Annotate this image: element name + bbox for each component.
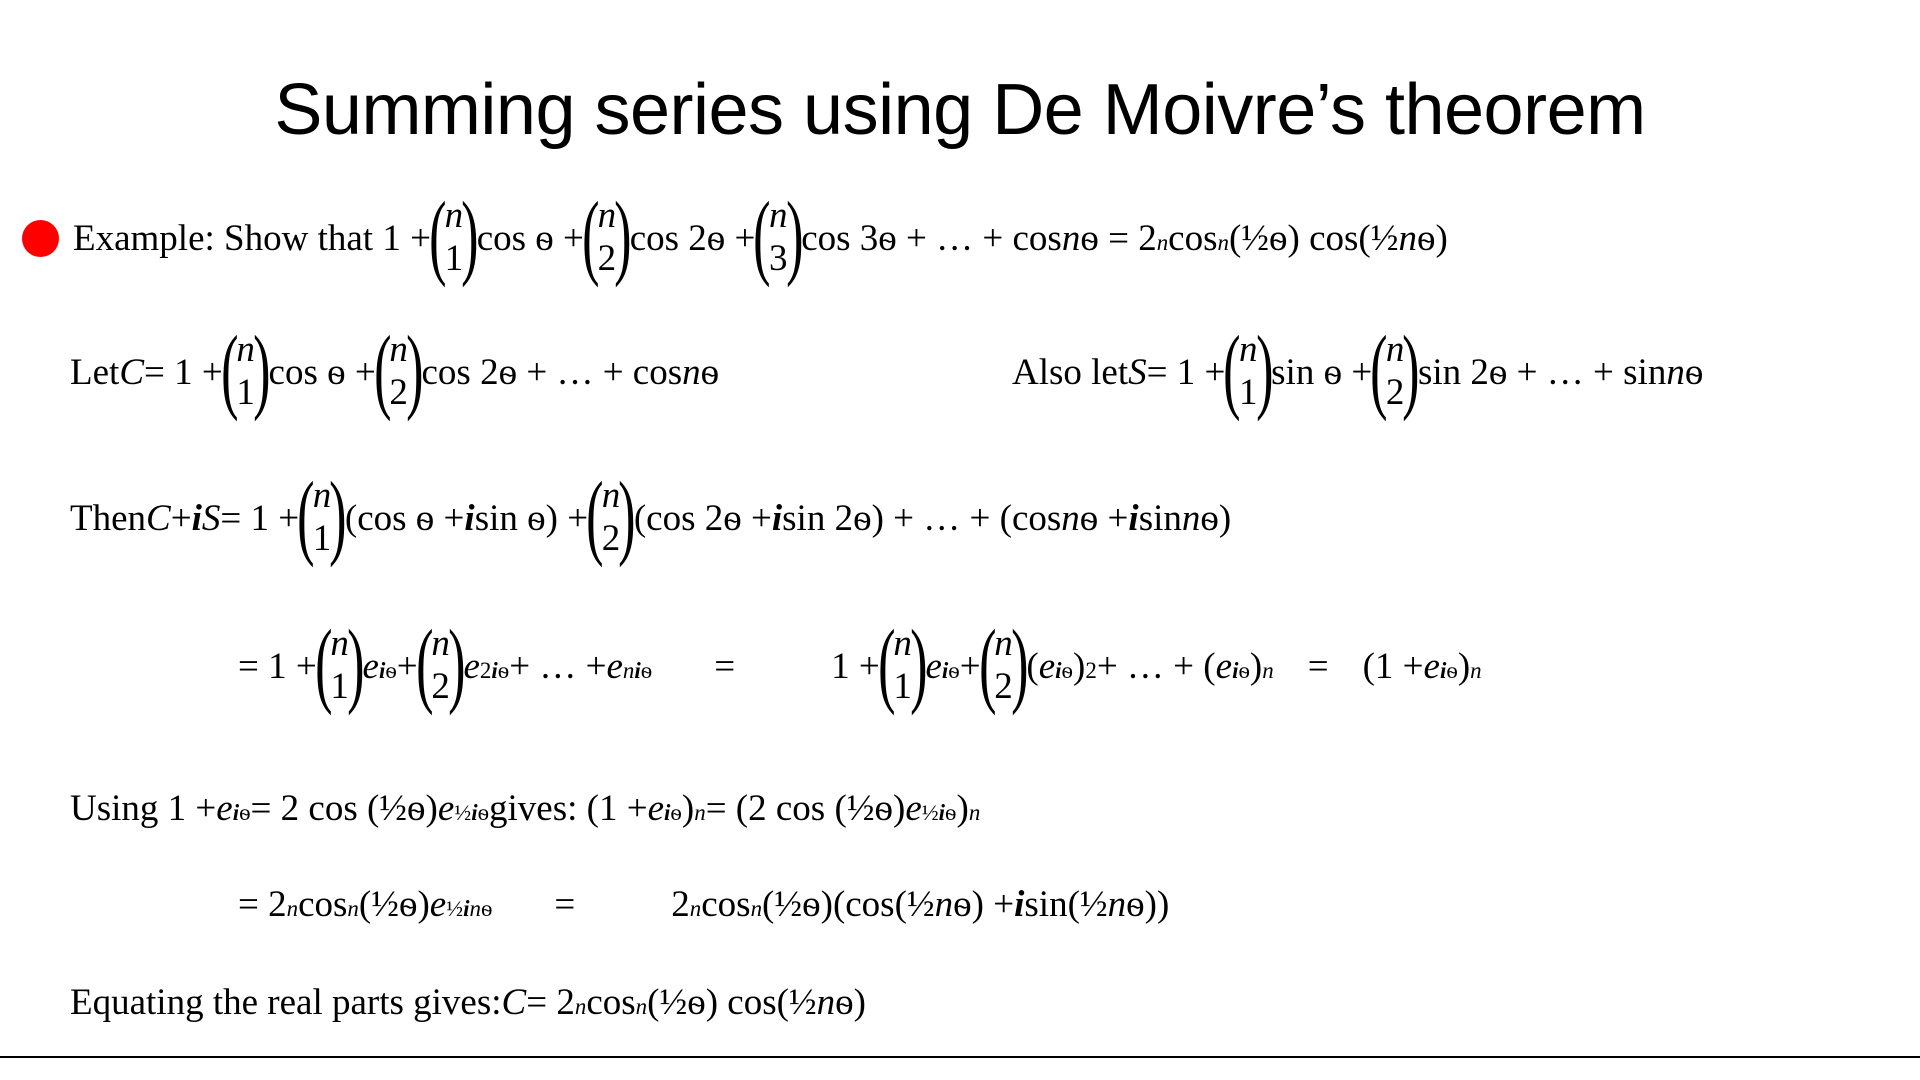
exp-e2-sup-theta: ѳ <box>498 658 509 683</box>
exp-e1-sup-theta: ѳ <box>385 658 396 683</box>
equating-n1: n <box>817 984 836 1021</box>
then-i1: i <box>464 500 474 537</box>
binomial-top: n <box>1239 331 1258 368</box>
result-eq: = 2 <box>238 886 287 923</box>
bullet-dot-icon <box>22 220 59 257</box>
then-seg2b: sin 2ѳ) + … + (cos <box>782 500 1061 537</box>
using-e4: e <box>905 790 921 827</box>
using-identity-row: Using 1 + eiѳ = 2 cos (½ѳ)e½iѳ gives: (1… <box>70 790 980 827</box>
result-e1-sup-half: ½ <box>446 896 463 921</box>
result-close: ѳ)) <box>1126 886 1169 923</box>
using-lead: Using 1 + <box>70 790 216 827</box>
then-lead: Then <box>70 500 146 537</box>
result-e1-sup-theta: ѳ <box>481 896 492 921</box>
exp-e3: e <box>606 648 622 685</box>
exp-plus2: + <box>960 648 981 685</box>
using-e4-sup-theta: ѳ <box>945 800 956 825</box>
using-e2: e <box>438 790 454 827</box>
bottom-divider <box>0 1056 1920 1058</box>
result-sin: sin(½ <box>1024 886 1107 923</box>
example-n-italic2: n <box>1399 220 1418 257</box>
result-n1: n <box>935 886 954 923</box>
let-s-lead: Also let <box>1012 354 1128 391</box>
result-cos: cos <box>298 886 347 923</box>
equating-eq: = 2 <box>526 984 575 1021</box>
then-S: S <box>202 500 221 537</box>
using-e4-sup-half: ½ <box>922 800 939 825</box>
exp-mid2: + … + ( <box>1097 648 1216 685</box>
exp-equals-end: = <box>1308 648 1329 685</box>
using-expression: Using 1 + eiѳ = 2 cos (½ѳ)e½iѳ gives: (1… <box>70 790 980 827</box>
exp-e5: e <box>1039 648 1055 685</box>
example-half-theta: (½ѳ) cos(½ <box>1229 220 1399 257</box>
let-s-n-italic: n <box>1666 354 1685 391</box>
result-cos2: cos <box>701 886 750 923</box>
using-close2: ) <box>956 790 968 827</box>
exp-e2: e <box>463 648 479 685</box>
exp-paren-close-2: ) <box>1073 648 1085 685</box>
exp-e6-sup-theta: ѳ <box>1238 658 1249 683</box>
also-let-s-row: Also let S = 1 + ( n 1 ) sin ѳ + ( n <box>1012 352 1703 391</box>
example-statement: Example: Show that 1 + ( n 1 ) cos ѳ + (… <box>73 218 1448 257</box>
exp-final-close: ) <box>1458 648 1470 685</box>
using-e1-sup-theta: ѳ <box>239 800 250 825</box>
example-bullet-row: Example: Show that 1 + ( n 1 ) cos ѳ + (… <box>22 218 1448 257</box>
example-close: ѳ) <box>1417 220 1448 257</box>
then-eq: = 1 + <box>220 500 299 537</box>
exp-e1: e <box>363 648 379 685</box>
using-e3: e <box>648 790 664 827</box>
let-c-expression: Let C = 1 + ( n 1 ) cos ѳ + ( n 2 <box>70 352 719 391</box>
let-s-symbol: S <box>1128 354 1147 391</box>
let-c-seg2: cos 2ѳ + … + cos <box>422 354 683 391</box>
exponential-expression: = 1 + ( n 1 ) eiѳ + ( n 2 <box>238 646 1482 685</box>
binomial-top: n <box>994 625 1013 662</box>
then-c-plus-is-row: Then C + iS = 1 + ( n 1 ) (cos ѳ + i sin… <box>70 498 1231 537</box>
equating-lead: Equating the real parts gives: <box>70 984 502 1021</box>
then-i: i <box>192 500 202 537</box>
example-cos: cos <box>1168 220 1217 257</box>
exponential-row: = 1 + ( n 1 ) eiѳ + ( n 2 <box>238 646 1482 685</box>
binomial-top: n <box>769 197 788 234</box>
exp-final: (1 + <box>1363 648 1424 685</box>
let-c-theta: ѳ <box>701 354 720 391</box>
let-c-symbol: C <box>119 354 144 391</box>
equating-row: Equating the real parts gives: C = 2n co… <box>70 984 866 1021</box>
equating-cos: cos <box>586 984 635 1021</box>
exp-e7-sup-theta: ѳ <box>1446 658 1457 683</box>
example-seg2: cos 2ѳ + <box>630 220 756 257</box>
result-mid: ѳ) + <box>953 886 1014 923</box>
binomial-top: n <box>236 331 255 368</box>
binomial-top: n <box>431 625 450 662</box>
exp-eq1: = 1 + <box>238 648 317 685</box>
then-n1: n <box>1061 500 1080 537</box>
exp-e3-sup-theta: ѳ <box>641 658 652 683</box>
let-s-eq: = 1 + <box>1147 354 1226 391</box>
result-half2: (½ѳ)(cos(½ <box>762 886 935 923</box>
exp-e5-sup-theta: ѳ <box>1062 658 1073 683</box>
let-s-expression: Also let S = 1 + ( n 1 ) sin ѳ + ( n <box>1012 352 1703 391</box>
then-seg2e: ѳ) <box>1200 500 1231 537</box>
result-row: = 2n cosn(½ѳ)e½inѳ = 2n cosn(½ѳ)(cos(½nѳ… <box>238 886 1169 923</box>
example-lead-text: Example: Show that 1 + <box>73 220 431 257</box>
binomial-top: n <box>330 625 349 662</box>
using-close1: ) <box>682 790 694 827</box>
exp-start2: 1 + <box>831 648 880 685</box>
exp-plus1: + <box>397 648 418 685</box>
then-plus: + <box>171 500 192 537</box>
let-c-seg1: cos ѳ + <box>269 354 376 391</box>
let-s-seg2: sin 2ѳ + … + sin <box>1418 354 1666 391</box>
let-c-eq: = 1 + <box>144 354 223 391</box>
then-seg1: (cos ѳ + <box>345 500 465 537</box>
result-equals-mid: = <box>554 886 575 923</box>
result-n2: n <box>1108 886 1127 923</box>
result-e1: e <box>430 886 446 923</box>
using-gives: gives: (1 + <box>489 790 648 827</box>
using-mid: = 2 cos (½ѳ) <box>251 790 438 827</box>
binomial-bottom: 1 <box>330 668 349 705</box>
exp-mid: + … + <box>509 648 606 685</box>
then-seg2: (cos 2ѳ + <box>634 500 772 537</box>
example-theta-eq: ѳ = 2 <box>1080 220 1156 257</box>
result-expression: = 2n cosn(½ѳ)e½inѳ = 2n cosn(½ѳ)(cos(½nѳ… <box>238 886 1169 923</box>
binomial-top: n <box>893 625 912 662</box>
then-seg2c: ѳ + <box>1080 500 1129 537</box>
exp-e6: e <box>1216 648 1232 685</box>
result-e1-sup-n: n <box>469 896 480 921</box>
exp-e7: e <box>1424 648 1440 685</box>
result-two2: 2 <box>671 886 690 923</box>
then-n2: n <box>1182 500 1201 537</box>
binomial-top: n <box>389 331 408 368</box>
using-e2-sup-theta: ѳ <box>478 800 489 825</box>
equating-close: ѳ) <box>835 984 866 1021</box>
using-e3-sup-theta: ѳ <box>670 800 681 825</box>
then-expression: Then C + iS = 1 + ( n 1 ) (cos ѳ + i sin… <box>70 498 1231 537</box>
using-e2-sup-half: ½ <box>454 800 471 825</box>
then-C: C <box>146 500 171 537</box>
let-s-seg1: sin ѳ + <box>1271 354 1372 391</box>
binomial-bottom: 1 <box>1239 374 1258 411</box>
exp-close-n: ) <box>1250 648 1262 685</box>
equating-C: C <box>502 984 527 1021</box>
let-c-n-italic: n <box>682 354 701 391</box>
result-i1: i <box>1014 886 1024 923</box>
binomial-bottom: 1 <box>893 668 912 705</box>
then-seg1b: sin ѳ) + <box>475 500 588 537</box>
example-seg1: cos ѳ + <box>477 220 584 257</box>
binomial-bottom: 2 <box>431 668 450 705</box>
exp-e4: e <box>925 648 941 685</box>
result-half: (½ѳ) <box>359 886 430 923</box>
slide-canvas: Summing series using De Moivre’s theorem… <box>0 0 1920 1080</box>
binomial-bottom: 2 <box>994 668 1013 705</box>
then-i3: i <box>1128 500 1138 537</box>
using-e1: e <box>216 790 232 827</box>
binomial-bottom: 2 <box>389 374 408 411</box>
example-n-italic: n <box>1062 220 1081 257</box>
equating-expression: Equating the real parts gives: C = 2n co… <box>70 984 866 1021</box>
then-i2: i <box>772 500 782 537</box>
let-s-theta: ѳ <box>1685 354 1704 391</box>
using-eq: = (2 cos (½ѳ) <box>706 790 906 827</box>
let-c-lead: Let <box>70 354 119 391</box>
example-seg3: cos 3ѳ + … + cos <box>801 220 1062 257</box>
exp-e3-sup-n: n <box>623 658 634 683</box>
title-block: Summing series using De Moivre’s theorem <box>0 68 1920 152</box>
equating-half: (½ѳ) cos(½ <box>647 984 817 1021</box>
then-seg2d: sin <box>1139 500 1182 537</box>
binomial-bottom: 1 <box>236 374 255 411</box>
page-title: Summing series using De Moivre’s theorem <box>0 68 1920 152</box>
exp-e4-sup-theta: ѳ <box>948 658 959 683</box>
let-c-row: Let C = 1 + ( n 1 ) cos ѳ + ( n 2 <box>70 352 719 391</box>
exp-equals-mid: = <box>714 648 735 685</box>
binomial-bottom: 3 <box>769 240 788 277</box>
exp-e2-sup-2: 2 <box>480 658 491 683</box>
